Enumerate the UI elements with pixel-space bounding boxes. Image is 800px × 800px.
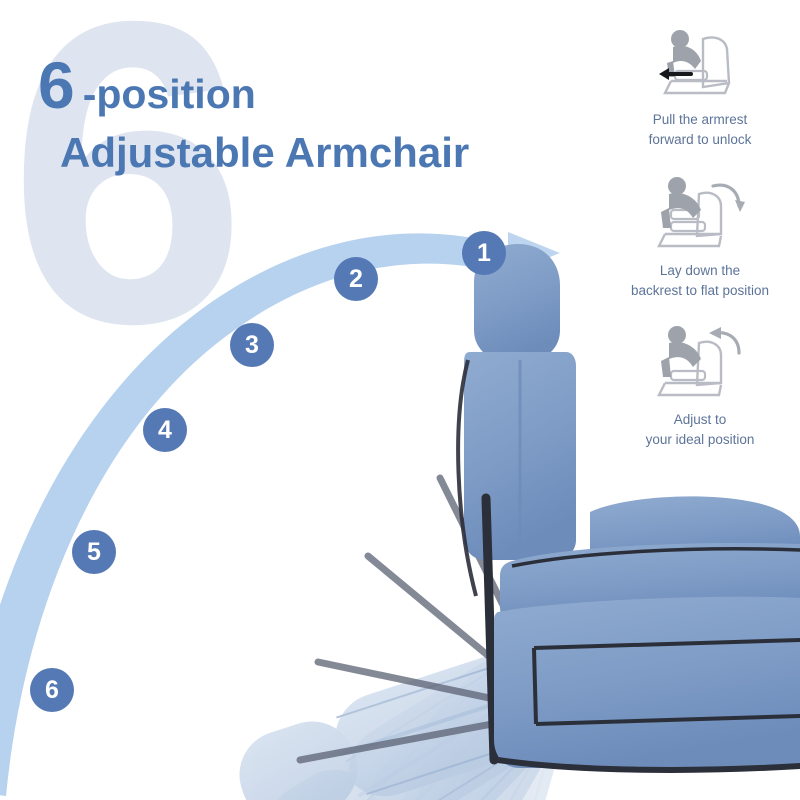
feature-pull-armrest: Pull the armrest forward to unlock (600, 18, 800, 149)
title-number: 6 (38, 52, 74, 118)
person-adjust-position-icon (600, 318, 800, 410)
person-pull-armrest-icon (600, 18, 800, 110)
person-recline-backrest-icon (600, 169, 800, 261)
position-badge-2[interactable]: 2 (334, 257, 378, 301)
feature-caption: Adjust to your ideal position (600, 410, 800, 449)
feature-adjust-position: Adjust to your ideal position (600, 318, 800, 449)
title-line-two: Adjustable Armchair (60, 132, 469, 174)
position-badge-5[interactable]: 5 (72, 530, 116, 574)
infographic-canvas: 6 (0, 0, 800, 800)
position-badge-3[interactable]: 3 (230, 323, 274, 367)
position-badge-6[interactable]: 6 (30, 668, 74, 712)
page-title: 6 -position Adjustable Armchair (38, 52, 469, 174)
feature-caption: Lay down the backrest to flat position (600, 261, 800, 300)
position-badge-4[interactable]: 4 (143, 408, 187, 452)
position-badge-1[interactable]: 1 (462, 231, 506, 275)
title-suffix: -position (83, 74, 256, 115)
feature-caption: Pull the armrest forward to unlock (600, 110, 800, 149)
feature-callout-list: Pull the armrest forward to unlock (600, 18, 800, 461)
feature-lay-backrest: Lay down the backrest to flat position (600, 169, 800, 300)
